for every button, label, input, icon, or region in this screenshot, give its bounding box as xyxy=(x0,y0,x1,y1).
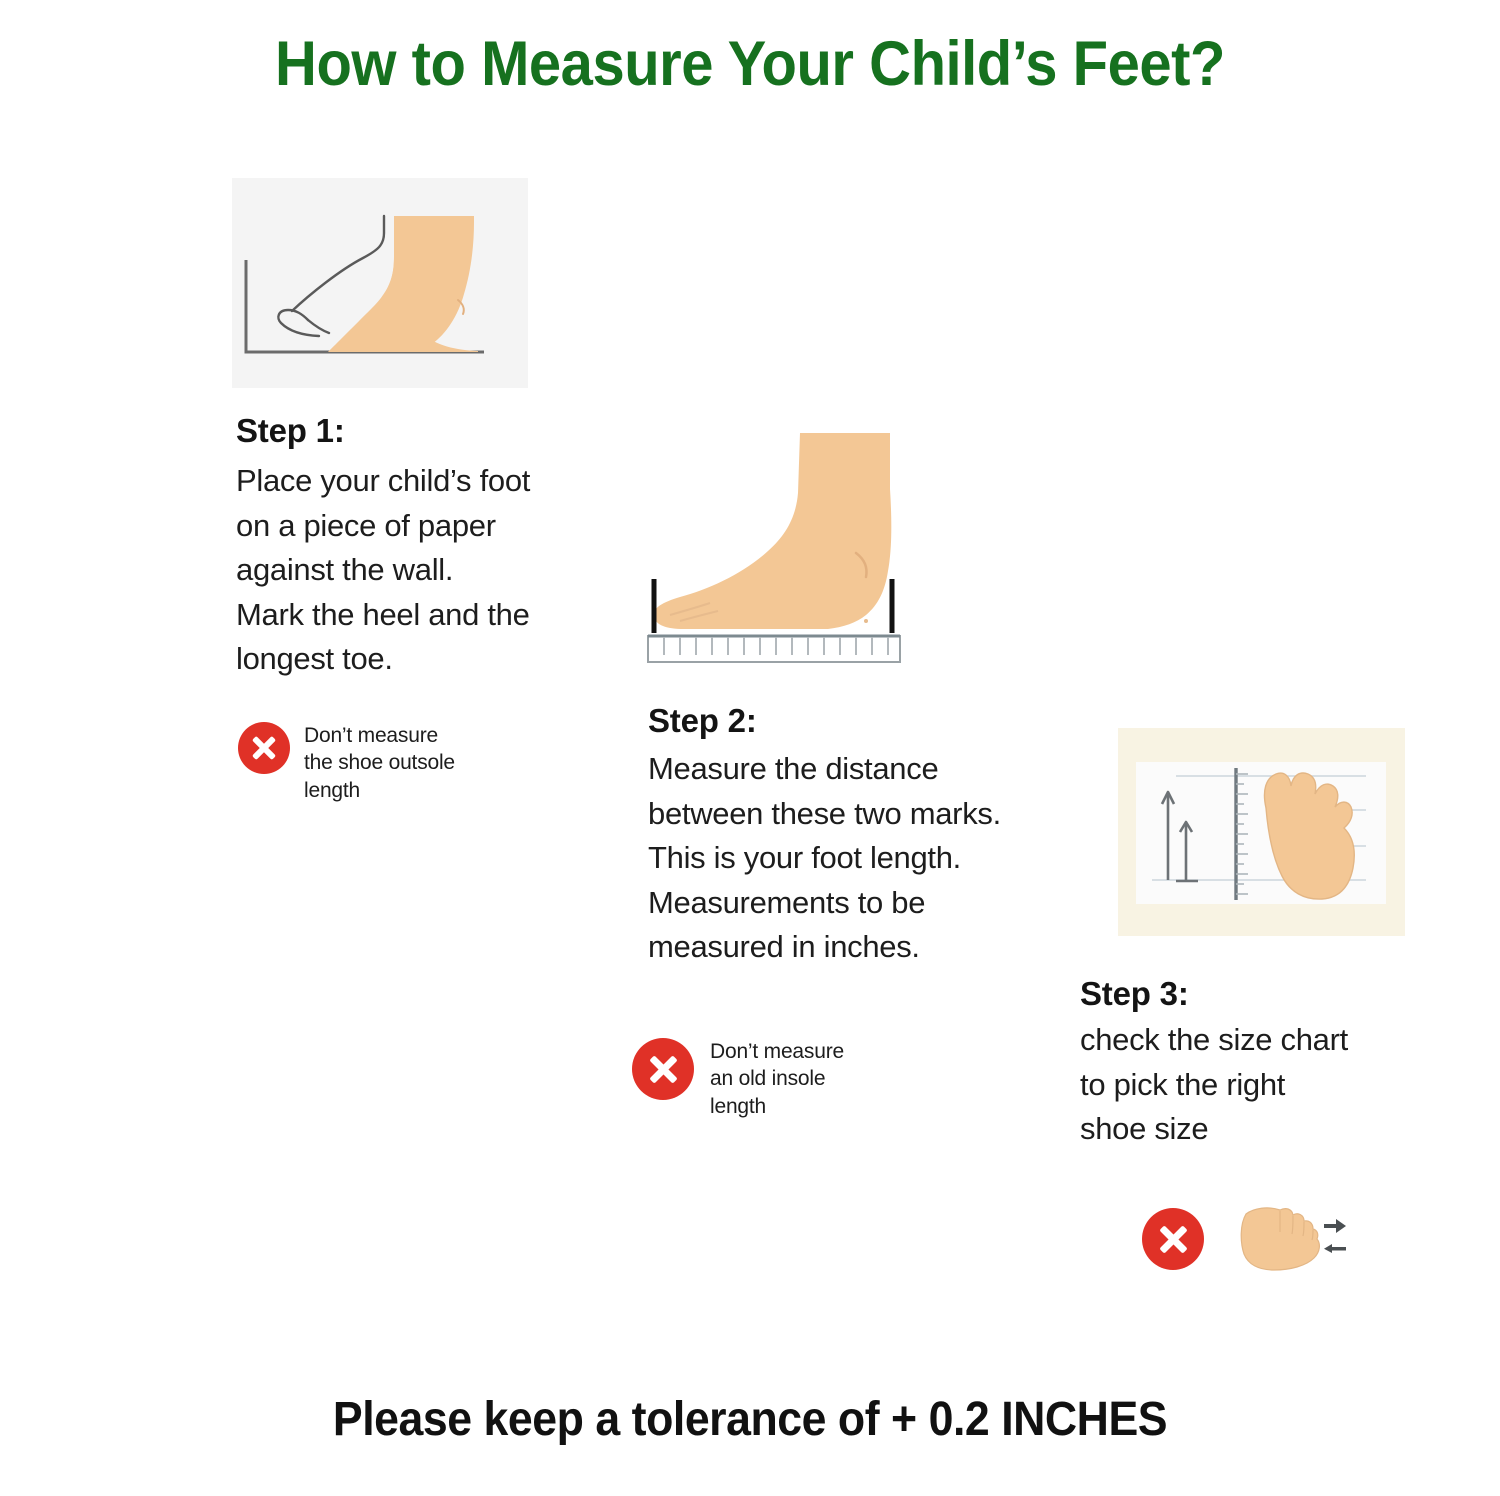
step-1-warning-line-3: length xyxy=(304,777,455,804)
step-1-text-block: Step 1: Place your child’s foot on a pie… xyxy=(236,412,576,682)
step-3-text-block: Step 3: check the size chart to pick the… xyxy=(1080,975,1420,1152)
step-1-warning: Don’t measure the shoe outsole length xyxy=(238,722,538,804)
step-2-warning: Don’t measure an old insole length xyxy=(632,1038,942,1120)
step-3-heading: Step 3: xyxy=(1080,975,1420,1014)
step-2-line-5: measured in inches. xyxy=(648,925,1078,970)
step-2-line-1: Measure the distance xyxy=(648,747,1078,792)
step-3-line-2: to pick the right xyxy=(1080,1063,1420,1108)
step-2-line-4: Measurements to be xyxy=(648,881,1078,926)
step-1-line-1: Place your child’s foot xyxy=(236,459,576,504)
footprint-on-chart-icon xyxy=(1118,728,1405,936)
step-3-warning xyxy=(1142,1202,1346,1276)
step-2-heading: Step 2: xyxy=(648,702,1078,741)
foot-with-ruler-icon xyxy=(640,425,940,665)
page-title: How to Measure Your Child’s Feet? xyxy=(60,28,1440,100)
step-1-warning-text: Don’t measure the shoe outsole length xyxy=(304,722,455,804)
step-1-line-5: longest toe. xyxy=(236,637,576,682)
step-1-line-2: on a piece of paper xyxy=(236,504,576,549)
step-3-illustration xyxy=(1118,728,1405,936)
arrow-left-icon xyxy=(1324,1244,1346,1253)
step-2-warning-line-3: length xyxy=(710,1093,844,1120)
footprint-with-arrows-icon xyxy=(1226,1202,1346,1276)
red-x-circle-icon xyxy=(632,1038,694,1100)
step-1-line-4: Mark the heel and the xyxy=(236,593,576,638)
red-x-circle-icon xyxy=(238,722,290,774)
step-1-line-3: against the wall. xyxy=(236,548,576,593)
step-2-line-3: This is your foot length. xyxy=(648,836,1078,881)
red-x-circle-icon xyxy=(1142,1208,1204,1270)
step-2-illustration xyxy=(640,425,940,665)
step-1-warning-line-1: Don’t measure xyxy=(304,722,455,749)
tolerance-note: Please keep a tolerance of + 0.2 INCHES xyxy=(53,1392,1448,1447)
step-2-line-2: between these two marks. xyxy=(648,792,1078,837)
step-2-warning-line-1: Don’t measure xyxy=(710,1038,844,1065)
step-3-line-1: check the size chart xyxy=(1080,1018,1420,1063)
step-2-warning-line-2: an old insole xyxy=(710,1065,844,1092)
step-1-heading: Step 1: xyxy=(236,412,576,451)
arrow-right-icon xyxy=(1324,1219,1346,1233)
foot-profile-against-wall-icon xyxy=(232,178,528,388)
step-2-warning-text: Don’t measure an old insole length xyxy=(710,1038,844,1120)
step-3-line-3: shoe size xyxy=(1080,1107,1420,1152)
step-2-text-block: Step 2: Measure the distance between the… xyxy=(648,702,1078,970)
step-1-illustration xyxy=(232,178,528,388)
step-1-warning-line-2: the shoe outsole xyxy=(304,749,455,776)
